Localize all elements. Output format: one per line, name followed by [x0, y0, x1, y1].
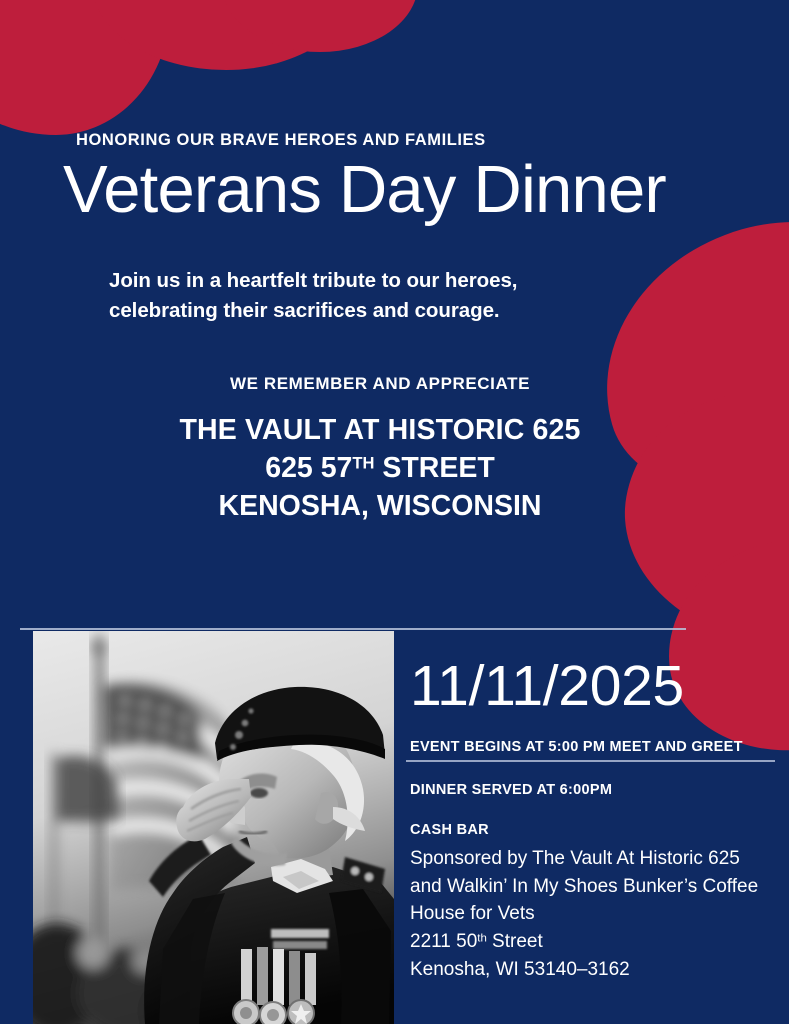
sponsor-line-2: and Walkin’ In My Shoes Bunker’s Coffee	[410, 873, 770, 901]
flyer-poster: HONORING OUR BRAVE HEROES AND FAMILIES V…	[0, 0, 789, 1024]
sponsor-block: Sponsored by The Vault At Historic 625 a…	[410, 845, 770, 984]
lede-line-2: celebrating their sacrifices and courage…	[109, 296, 517, 326]
veteran-salute-photo	[33, 631, 394, 1024]
sponsor-address-city: Kenosha, WI 53140–3162	[410, 956, 770, 984]
event-date: 11/11/2025	[410, 658, 684, 715]
venue-street-ordinal: TH	[352, 453, 374, 472]
sponsor-address-suffix: Street	[487, 931, 543, 952]
venue-street: 625 57TH STREET	[0, 450, 760, 488]
lede-text: Join us in a heartfelt tribute to our he…	[109, 266, 517, 326]
lede-line-1: Join us in a heartfelt tribute to our he…	[109, 266, 517, 296]
dinner-served-text: DINNER SERVED AT 6:00PM	[410, 782, 612, 798]
divider-top	[20, 628, 686, 630]
sponsor-address-ordinal: th	[477, 933, 487, 945]
venue-kicker: WE REMEMBER AND APPRECIATE	[0, 374, 760, 394]
event-begins-text: EVENT BEGINS AT 5:00 PM MEET AND GREET	[410, 739, 743, 755]
venue-city-state: KENOSHA, WISCONSIN	[0, 488, 760, 526]
cash-bar-text: CASH BAR	[410, 822, 489, 838]
venue-block: WE REMEMBER AND APPRECIATE THE VAULT AT …	[0, 374, 760, 526]
venue-street-number: 625 57	[265, 452, 352, 484]
venue-name: THE VAULT AT HISTORIC 625	[0, 412, 760, 450]
page-title: Veterans Day Dinner	[63, 155, 666, 225]
sponsor-address-number: 2211 50	[410, 931, 477, 952]
sponsor-line-3: House for Vets	[410, 900, 770, 928]
sponsor-line-1: Sponsored by The Vault At Historic 625	[410, 845, 770, 873]
sponsor-address-street: 2211 50th Street	[410, 928, 770, 956]
venue-street-suffix: STREET	[374, 452, 494, 484]
kicker-text: HONORING OUR BRAVE HEROES AND FAMILIES	[76, 131, 486, 150]
divider-middle	[406, 760, 775, 762]
